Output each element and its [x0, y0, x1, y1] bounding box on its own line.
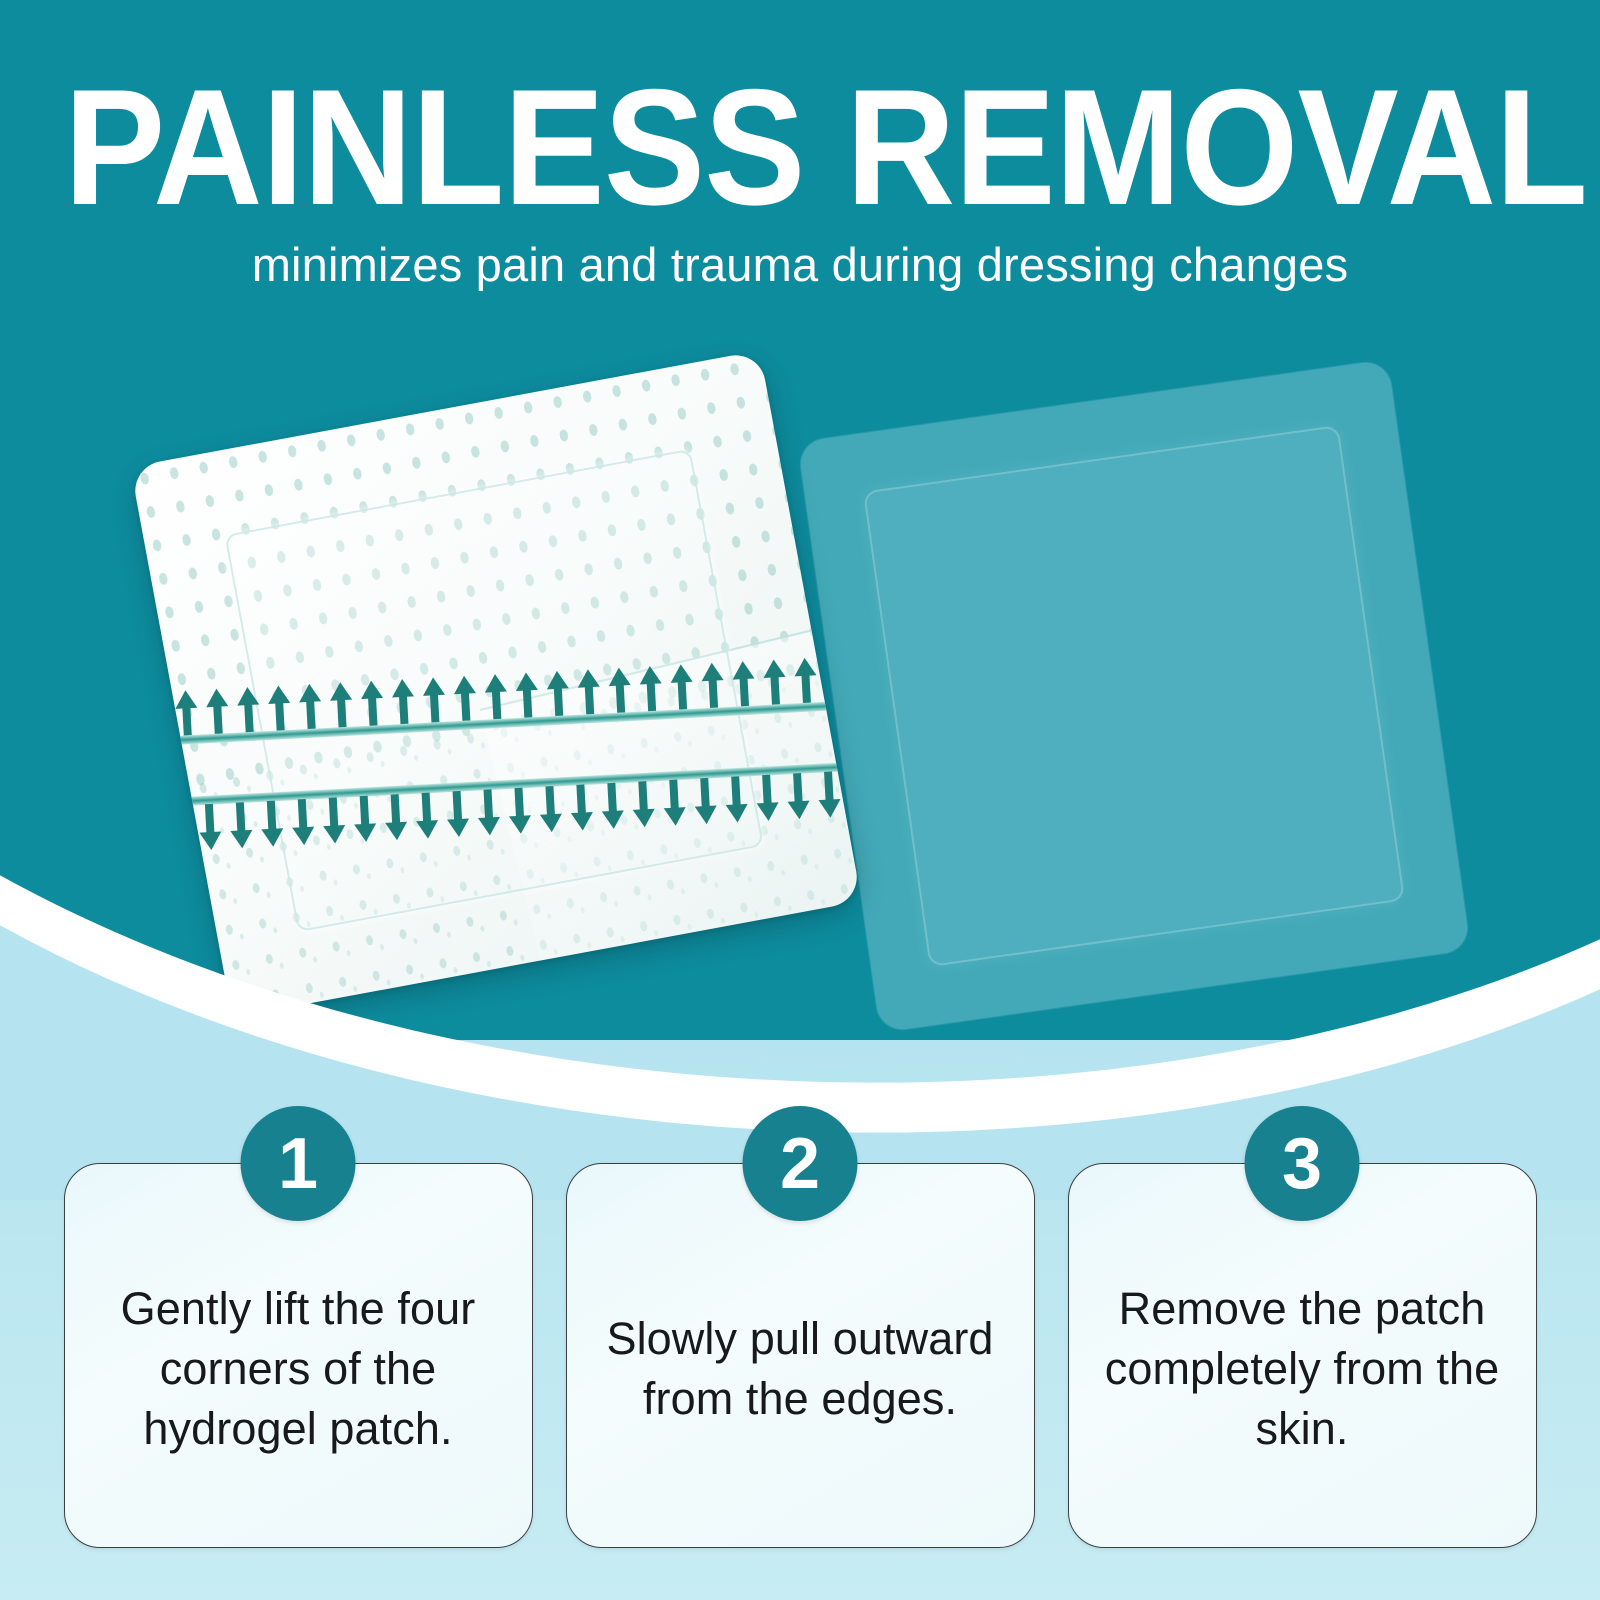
release-arrow-icon [236, 686, 260, 733]
step-text-1: Gently lift the four corners of the hydr… [99, 1279, 498, 1459]
release-arrow-icon [794, 657, 818, 704]
release-arrow-icon [817, 771, 841, 818]
release-arrow-icon [453, 675, 477, 722]
release-arrow-icon [546, 670, 570, 717]
release-arrow-icon [446, 791, 470, 838]
release-arrow-icon [260, 800, 284, 847]
release-arrow-icon [569, 784, 593, 831]
release-arrow-icon [422, 677, 446, 724]
release-arrow-icon [143, 691, 167, 738]
steps-list: 1 Gently lift the four corners of the hy… [0, 1100, 1600, 1570]
release-arrow-icon [608, 667, 632, 714]
release-arrow-icon [384, 794, 408, 841]
transparent-film-patch [797, 359, 1470, 1032]
step-card-1[interactable]: 1 Gently lift the four corners of the hy… [64, 1163, 533, 1548]
release-arrow-icon [267, 685, 291, 732]
product-photo-area [0, 0, 1600, 1100]
release-arrow-icon [662, 779, 686, 826]
release-arrow-icon [600, 782, 624, 829]
release-arrow-icon [763, 659, 787, 706]
release-arrow-icon [538, 786, 562, 833]
release-arrow-icon [360, 680, 384, 727]
hydrogel-dressing [130, 350, 861, 1017]
release-arrow-icon [205, 688, 229, 735]
release-arrow-icon [693, 778, 717, 825]
release-arrow-icon [174, 690, 198, 737]
step-card-3[interactable]: 3 Remove the patch completely from the s… [1068, 1163, 1537, 1548]
release-arrow-icon [670, 664, 694, 711]
release-arrow-icon [167, 805, 191, 852]
release-arrow-icon [577, 669, 601, 716]
step-number-badge-1: 1 [241, 1106, 356, 1221]
release-arrow-icon [391, 678, 415, 725]
step-card-2[interactable]: 2 Slowly pull outward from the edges. [566, 1163, 1035, 1548]
release-arrow-icon [353, 795, 377, 842]
release-arrow-icon [477, 789, 501, 836]
release-arrow-icon [484, 674, 508, 721]
release-arrow-icon [329, 682, 353, 729]
release-arrow-icon [229, 802, 253, 849]
release-arrow-icon [298, 683, 322, 730]
step-number-badge-3: 3 [1245, 1106, 1360, 1221]
release-arrow-icon [755, 774, 779, 821]
release-arrow-icon [701, 662, 725, 709]
step-text-3: Remove the patch completely from the ski… [1103, 1279, 1502, 1459]
release-arrow-icon [322, 797, 346, 844]
release-arrow-icon [198, 804, 222, 851]
release-arrow-icon [786, 773, 810, 820]
step-number-badge-2: 2 [743, 1106, 858, 1221]
release-arrow-icon [415, 792, 439, 839]
infographic-root: PAINLESS REMOVAL minimizes pain and trau… [0, 0, 1600, 1600]
release-arrow-icon [631, 781, 655, 828]
release-arrow-icon [515, 672, 539, 719]
release-arrow-icon [291, 799, 315, 846]
release-arrow-icon [732, 661, 756, 708]
release-arrow-icon [507, 787, 531, 834]
release-arrow-icon [639, 665, 663, 712]
release-arrow-icon [724, 776, 748, 823]
step-text-2: Slowly pull outward from the edges. [601, 1309, 1000, 1429]
